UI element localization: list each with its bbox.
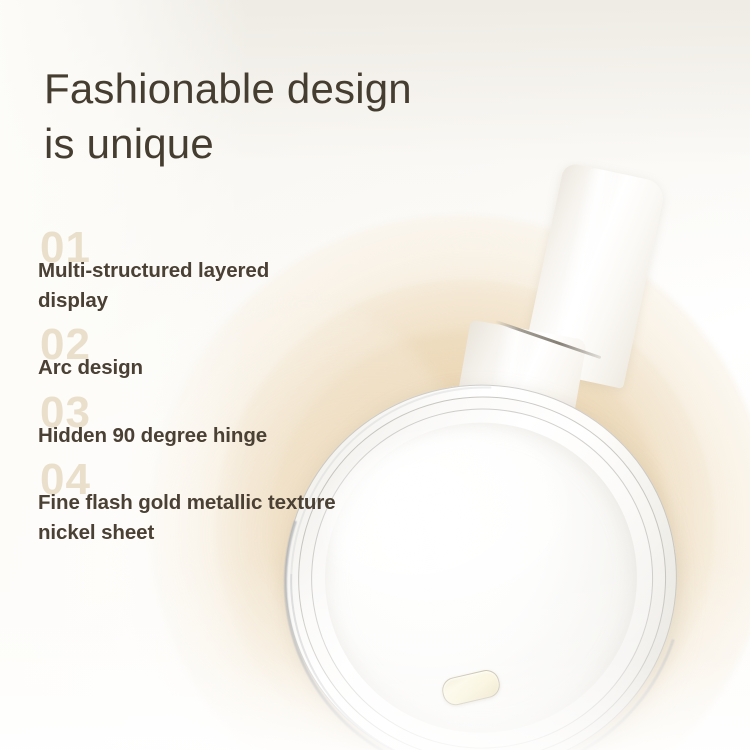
feature-label-04: Fine flash gold metallic texture nickel … [38, 460, 338, 547]
feature-item-04: 04 Fine flash gold metallic texture nick… [38, 460, 368, 547]
page-title: Fashionable design is unique [44, 62, 564, 171]
feature-item-01: 01 Multi-structured layered display [38, 228, 368, 315]
feature-item-03: 03 Hidden 90 degree hinge [38, 393, 368, 451]
feature-label-02: Arc design [38, 325, 338, 383]
feature-list: 01 Multi-structured layered display 02 A… [38, 228, 368, 557]
feature-label-01: Multi-structured layered display [38, 228, 338, 315]
product-feature-banner: Fashionable design is unique 01 Multi-st… [0, 0, 750, 750]
feature-item-02: 02 Arc design [38, 325, 368, 383]
page-title-line-1: Fashionable design [44, 62, 564, 117]
page-title-line-2: is unique [44, 117, 564, 172]
feature-label-03: Hidden 90 degree hinge [38, 393, 338, 451]
